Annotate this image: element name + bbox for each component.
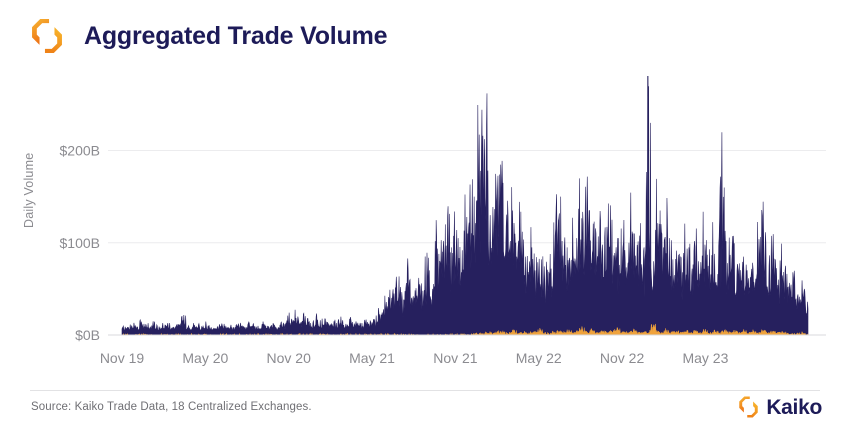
kaiko-hexagon-logo-icon bbox=[30, 18, 64, 54]
page-title: Aggregated Trade Volume bbox=[84, 24, 387, 49]
svg-text:$100B: $100B bbox=[60, 235, 100, 251]
chart-header: Aggregated Trade Volume bbox=[30, 18, 387, 54]
x-tick-labels: Nov 19May 20Nov 20May 21Nov 21May 22Nov … bbox=[100, 350, 729, 366]
source-note: Source: Kaiko Trade Data, 18 Centralized… bbox=[31, 401, 312, 413]
svg-text:$200B: $200B bbox=[60, 143, 100, 159]
chart-container: Daily Volume $0B$100B$200B Nov 19May 20N… bbox=[0, 76, 850, 372]
svg-text:May 22: May 22 bbox=[516, 350, 562, 366]
footer-divider bbox=[30, 390, 820, 391]
svg-text:$0B: $0B bbox=[75, 327, 100, 343]
aggregated-trade-volume-chart: $0B$100B$200B Nov 19May 20Nov 20May 21No… bbox=[0, 76, 850, 372]
svg-text:Nov 20: Nov 20 bbox=[267, 350, 312, 366]
svg-text:May 23: May 23 bbox=[682, 350, 728, 366]
svg-text:May 20: May 20 bbox=[182, 350, 228, 366]
series-area-navy bbox=[122, 76, 808, 335]
svg-text:Nov 21: Nov 21 bbox=[433, 350, 478, 366]
svg-text:Nov 22: Nov 22 bbox=[600, 350, 645, 366]
y-axis-title: Daily Volume bbox=[22, 153, 36, 228]
svg-text:Nov 19: Nov 19 bbox=[100, 350, 145, 366]
kaiko-hexagon-logo-icon bbox=[738, 396, 759, 418]
brand-wordmark: Kaiko bbox=[766, 397, 822, 418]
footer-brand: Kaiko bbox=[738, 396, 822, 418]
y-tick-labels: $0B$100B$200B bbox=[60, 143, 100, 343]
chart-page: Aggregated Trade Volume Daily Volume $0B… bbox=[0, 0, 850, 440]
svg-text:May 21: May 21 bbox=[349, 350, 395, 366]
